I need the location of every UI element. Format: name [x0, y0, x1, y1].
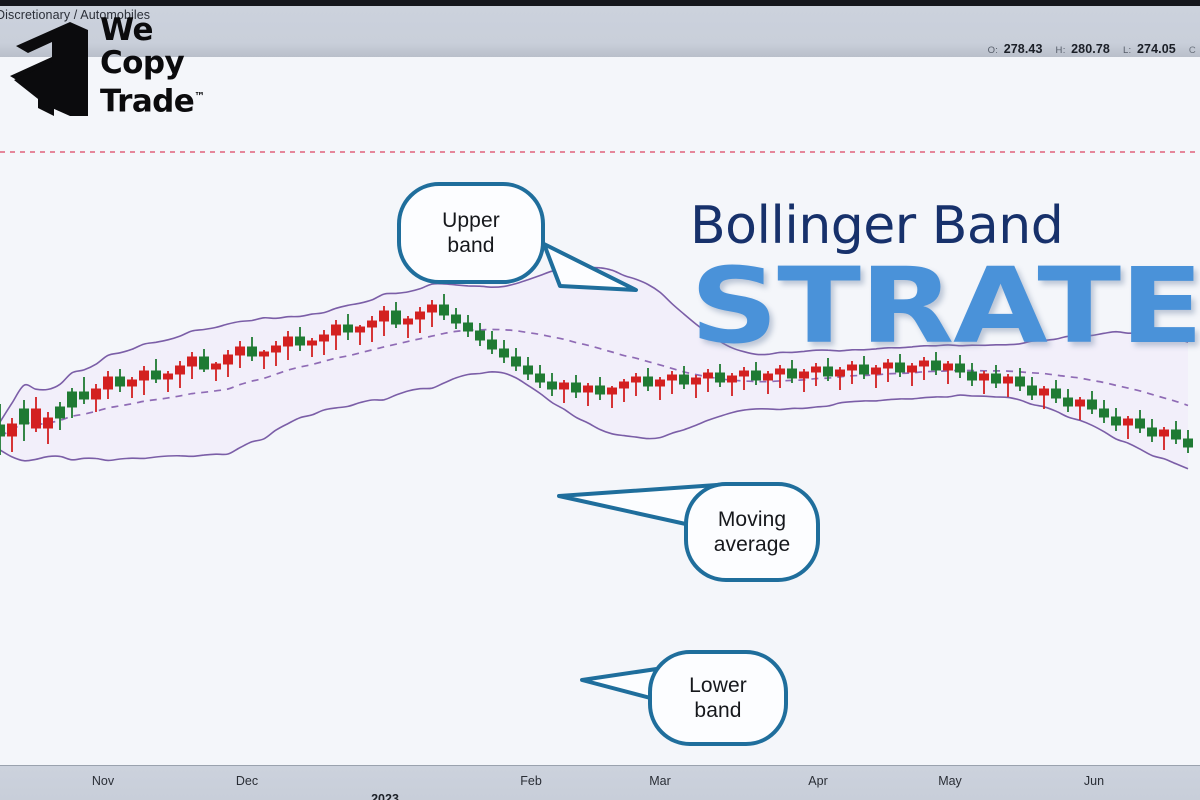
- candle-body: [200, 357, 209, 369]
- callout-moving-average-line2: average: [714, 532, 791, 557]
- candle-body: [548, 382, 557, 389]
- candle-body: [1184, 439, 1193, 447]
- trademark-symbol: ™: [194, 90, 205, 103]
- candle-body: [872, 368, 881, 374]
- logo-wordmark: We Copy Trade™: [100, 14, 205, 118]
- candle-body: [692, 378, 701, 384]
- candle-body: [824, 367, 833, 376]
- candle-body: [728, 376, 737, 382]
- candle-body: [608, 388, 617, 394]
- open-value: 278.43: [1004, 42, 1043, 56]
- candle-body: [152, 371, 161, 379]
- candle-body: [500, 349, 509, 357]
- candle-body: [1160, 430, 1169, 436]
- candle-body: [620, 382, 629, 388]
- candle-body: [1124, 419, 1133, 425]
- candle-body: [272, 346, 281, 352]
- logo-line-2: Copy: [100, 47, 205, 80]
- close-label-clipped: C: [1189, 45, 1196, 56]
- candle-body: [452, 315, 461, 323]
- axis-tick-label: Nov: [92, 774, 114, 788]
- candle-body: [968, 372, 977, 380]
- candle-body: [20, 409, 29, 424]
- candle-body: [632, 377, 641, 382]
- candle-body: [668, 375, 677, 380]
- logo-line-3-wrap: Trade™: [100, 80, 205, 118]
- low-value: 274.05: [1137, 42, 1176, 56]
- callout-lower-band[interactable]: Lower band: [648, 650, 788, 746]
- candle-body: [308, 341, 317, 345]
- candle-body: [164, 374, 173, 379]
- candle-body: [104, 377, 113, 389]
- candle-body: [572, 383, 581, 392]
- candle-body: [128, 380, 137, 386]
- candle-body: [992, 374, 1001, 383]
- candle-body: [1004, 377, 1013, 383]
- candle-body: [212, 364, 221, 369]
- logo-line-3: Trade: [100, 83, 194, 119]
- candle-body: [752, 371, 761, 380]
- low-quote: L: 274.05: [1123, 42, 1178, 56]
- callout-upper-band-line1: Upper: [442, 208, 500, 233]
- axis-tick-label: Feb: [520, 774, 542, 788]
- headline-line-2: STRATEGY: [690, 258, 1200, 354]
- candle-body: [1088, 400, 1097, 409]
- chevron-arrow-logo-icon: [8, 20, 96, 116]
- candle-body: [68, 392, 77, 407]
- upper-band-callout-tail: [540, 240, 640, 300]
- candle-body: [788, 369, 797, 378]
- candle-body: [188, 357, 197, 366]
- candle-body: [1040, 389, 1049, 395]
- axis-tick-label: Apr: [808, 774, 827, 788]
- axis-tick-label: May: [938, 774, 962, 788]
- wecopytrade-logo: We Copy Trade™: [8, 18, 223, 118]
- candle-body: [32, 409, 41, 428]
- candle-body: [1028, 386, 1037, 395]
- high-label: H:: [1056, 45, 1066, 56]
- open-label: O:: [988, 45, 999, 56]
- open-quote: O: 278.43: [988, 42, 1045, 56]
- candle-body: [392, 311, 401, 324]
- candle-body: [980, 374, 989, 380]
- candle-body: [1112, 417, 1121, 425]
- candle-body: [764, 374, 773, 380]
- candle-body: [368, 321, 377, 327]
- candle-body: [116, 377, 125, 386]
- candle-body: [1148, 428, 1157, 436]
- candle-body: [488, 340, 497, 349]
- candle-body: [236, 347, 245, 355]
- candle-body: [476, 331, 485, 340]
- candle-body: [56, 407, 65, 418]
- candle-body: [836, 370, 845, 376]
- candle-body: [596, 386, 605, 394]
- chart-screenshot: Discretionary / Automobiles O: 278.43H: …: [0, 0, 1200, 800]
- candle-body: [524, 366, 533, 374]
- high-quote: H: 280.78: [1056, 42, 1112, 56]
- candle-body: [740, 371, 749, 376]
- logo-line-1: We: [100, 14, 205, 47]
- candle-body: [1016, 377, 1025, 386]
- candle-body: [560, 383, 569, 389]
- candle-body: [1052, 389, 1061, 398]
- candle-body: [224, 355, 233, 364]
- candle-body: [680, 375, 689, 384]
- candle-body: [416, 312, 425, 319]
- candle-body: [260, 352, 269, 356]
- candle-body: [776, 369, 785, 374]
- candle-body: [1064, 398, 1073, 406]
- candle-body: [44, 418, 53, 428]
- candle-body: [644, 377, 653, 386]
- candle-body: [356, 327, 365, 332]
- candle-body: [380, 311, 389, 321]
- axis-tick-label: Mar: [649, 774, 671, 788]
- ohlc-quote-readout: O: 278.43H: 280.78L: 274.05C: [988, 42, 1198, 56]
- candle-body: [404, 319, 413, 324]
- candle-body: [92, 389, 101, 399]
- candle-body: [440, 305, 449, 315]
- callout-lower-band-line2: band: [689, 698, 747, 723]
- candle-body: [1172, 430, 1181, 439]
- candle-body: [320, 335, 329, 341]
- candle-body: [0, 425, 5, 436]
- candle-body: [140, 371, 149, 380]
- axis-tick-label: Jun: [1084, 774, 1104, 788]
- candle-body: [296, 337, 305, 345]
- candle-body: [584, 386, 593, 392]
- candle-body: [536, 374, 545, 382]
- candle-body: [248, 347, 257, 356]
- callout-moving-average[interactable]: Moving average: [684, 482, 820, 582]
- candle-body: [656, 380, 665, 386]
- candle-body: [1076, 400, 1085, 406]
- candle-body: [716, 373, 725, 382]
- callout-upper-band-line2: band: [442, 233, 500, 258]
- candle-body: [512, 357, 521, 366]
- candle-body: [344, 325, 353, 332]
- callout-moving-average-line1: Moving: [714, 507, 791, 532]
- time-axis[interactable]: NovDec2023FebMarAprMayJun: [0, 765, 1200, 800]
- candle-body: [8, 424, 17, 436]
- candle-body: [800, 372, 809, 378]
- candle-body: [464, 323, 473, 331]
- callout-upper-band[interactable]: Upper band: [397, 182, 545, 284]
- candle-body: [80, 392, 89, 399]
- high-value: 280.78: [1071, 42, 1110, 56]
- axis-tick-label: Dec: [236, 774, 258, 788]
- candle-body: [284, 337, 293, 346]
- candle-body: [332, 325, 341, 335]
- callout-lower-band-line1: Lower: [689, 673, 747, 698]
- headline-block: Bollinger Band STRATEGY: [690, 198, 1190, 354]
- axis-year-label: 2023: [371, 792, 399, 800]
- candle-body: [1136, 419, 1145, 428]
- candle-body: [704, 373, 713, 378]
- candle-body: [176, 366, 185, 374]
- low-label: L:: [1123, 45, 1132, 56]
- candle-body: [1100, 409, 1109, 417]
- candle-body: [428, 305, 437, 312]
- candle-body: [812, 367, 821, 372]
